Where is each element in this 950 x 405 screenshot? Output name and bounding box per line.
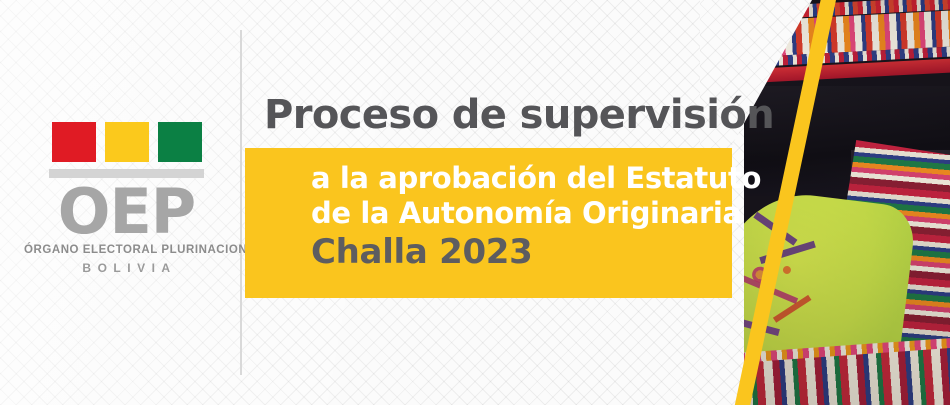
subhead-line-2: de la Autonomía Originaria [311, 196, 731, 231]
vertical-divider [240, 30, 242, 375]
yellow-square [105, 122, 149, 162]
subhead-line-1: a la aprobación del Estatuto [311, 161, 731, 196]
page-title: Proceso de supervisión [264, 92, 774, 138]
logo-wordmark: OEP [24, 180, 229, 243]
logo-country: BOLIVIA [24, 261, 229, 275]
event-name: Challa 2023 [311, 233, 731, 271]
oep-logo: OEP ÓRGANO ELECTORAL PLURINACIONAL BOLIV… [24, 122, 229, 275]
green-square [158, 122, 202, 162]
oep-event-banner: OEP ÓRGANO ELECTORAL PLURINACIONAL BOLIV… [0, 0, 950, 405]
banner-text-group: a la aprobación del Estatuto de la Auton… [311, 161, 731, 271]
logo-subtitle: ÓRGANO ELECTORAL PLURINACIONAL [24, 244, 229, 256]
red-square [52, 122, 96, 162]
logo-color-squares [24, 122, 229, 162]
